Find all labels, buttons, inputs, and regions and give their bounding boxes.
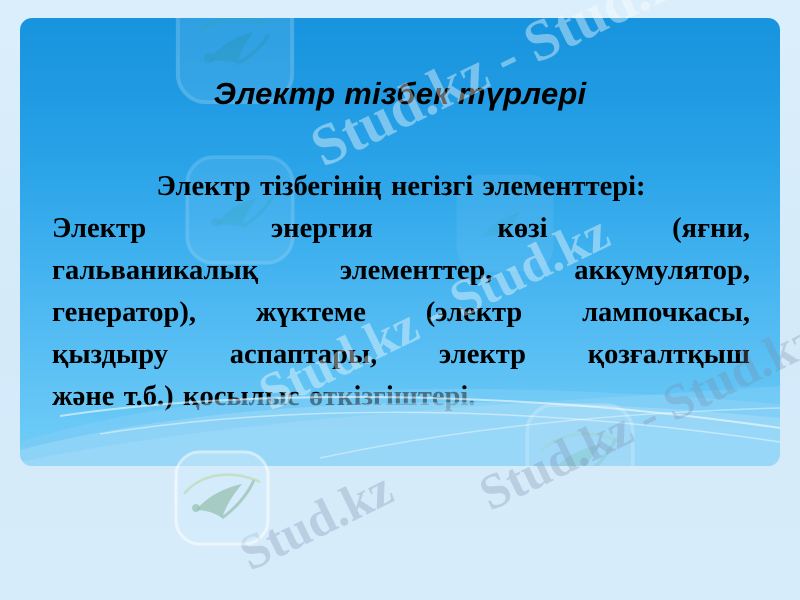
body-word: және xyxy=(52,376,114,418)
body-word: қосылыс xyxy=(183,376,299,418)
slide-page: Электр тізбек түрлері Электртізбегініңне… xyxy=(0,0,800,600)
body-word: элементтер, xyxy=(340,250,493,292)
body-line: генератор),жүктеме(электрлампочкасы, xyxy=(52,292,750,334)
body-word: көзі xyxy=(498,208,548,250)
slide-canvas: Электр тізбек түрлері Электртізбегініңне… xyxy=(20,18,780,466)
body-word: қыздыру xyxy=(52,334,168,376)
body-word: лампочкасы, xyxy=(582,292,750,334)
body-word: қозғалтқыш xyxy=(588,334,750,376)
watermark-text: Stud.kz xyxy=(230,459,402,582)
body-word: негізгі xyxy=(391,166,473,208)
body-word: (яғни, xyxy=(672,208,750,250)
body-word: т.б.) xyxy=(124,376,174,418)
body-word: гальваникалық xyxy=(52,250,258,292)
body-line: жәнет.б.)қосылысөткізгіштері. xyxy=(52,376,750,418)
slide-body-text: Электртізбегініңнегізгіэлементтері: Элек… xyxy=(52,166,750,418)
body-word: өткізгіштері. xyxy=(309,376,476,418)
body-line: қыздыруаспаптары,электрқозғалтқыш xyxy=(52,334,750,376)
body-word: аккумулятор, xyxy=(574,250,750,292)
slide-title: Электр тізбек түрлері xyxy=(20,76,780,112)
body-word: электр xyxy=(439,334,526,376)
body-word: генератор), xyxy=(52,292,196,334)
body-line: гальваникалықэлементтер,аккумулятор, xyxy=(52,250,750,292)
body-word: аспаптары, xyxy=(230,334,377,376)
body-line: Электртізбегініңнегізгіэлементтері: xyxy=(52,166,750,208)
body-word: (электр xyxy=(426,292,523,334)
body-word: Электр xyxy=(157,166,251,208)
body-word: жүктеме xyxy=(256,292,366,334)
body-word: элементтері: xyxy=(483,166,646,208)
body-word: Электр xyxy=(52,208,146,250)
body-word: энергия xyxy=(271,208,373,250)
body-line: Электрэнергиякөзі(яғни, xyxy=(52,208,750,250)
body-word: тізбегінің xyxy=(260,166,382,208)
